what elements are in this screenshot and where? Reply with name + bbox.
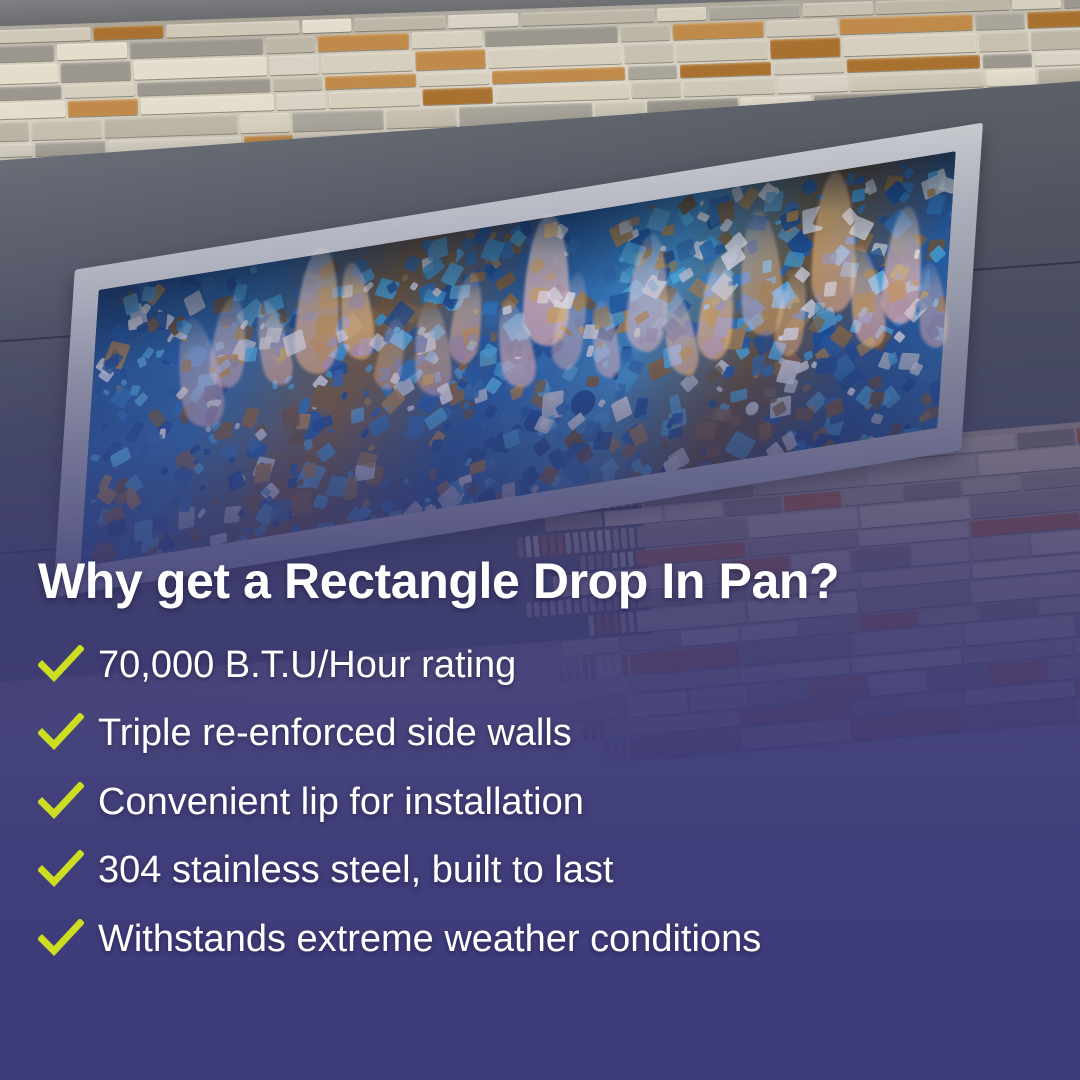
promo-graphic: Why get a Rectangle Drop In Pan? 70,000 … bbox=[0, 0, 1080, 1080]
list-item: Convenient lip for installation bbox=[38, 781, 1042, 824]
feature-label: Withstands extreme weather conditions bbox=[98, 918, 761, 961]
check-icon bbox=[38, 850, 84, 890]
check-icon bbox=[38, 782, 84, 822]
feature-label: 304 stainless steel, built to last bbox=[98, 849, 613, 892]
feature-list: 70,000 B.T.U/Hour ratingTriple re-enforc… bbox=[38, 644, 1042, 961]
list-item: 304 stainless steel, built to last bbox=[38, 849, 1042, 892]
feature-label: 70,000 B.T.U/Hour rating bbox=[98, 644, 516, 687]
check-icon bbox=[38, 919, 84, 959]
list-item: 70,000 B.T.U/Hour rating bbox=[38, 644, 1042, 687]
promo-content: Why get a Rectangle Drop In Pan? 70,000 … bbox=[0, 555, 1080, 960]
list-item: Triple re-enforced side walls bbox=[38, 712, 1042, 755]
feature-label: Triple re-enforced side walls bbox=[98, 712, 572, 755]
list-item: Withstands extreme weather conditions bbox=[38, 918, 1042, 961]
check-icon bbox=[38, 713, 84, 753]
feature-label: Convenient lip for installation bbox=[98, 781, 584, 824]
page-title: Why get a Rectangle Drop In Pan? bbox=[38, 555, 1042, 608]
check-icon bbox=[38, 645, 84, 685]
